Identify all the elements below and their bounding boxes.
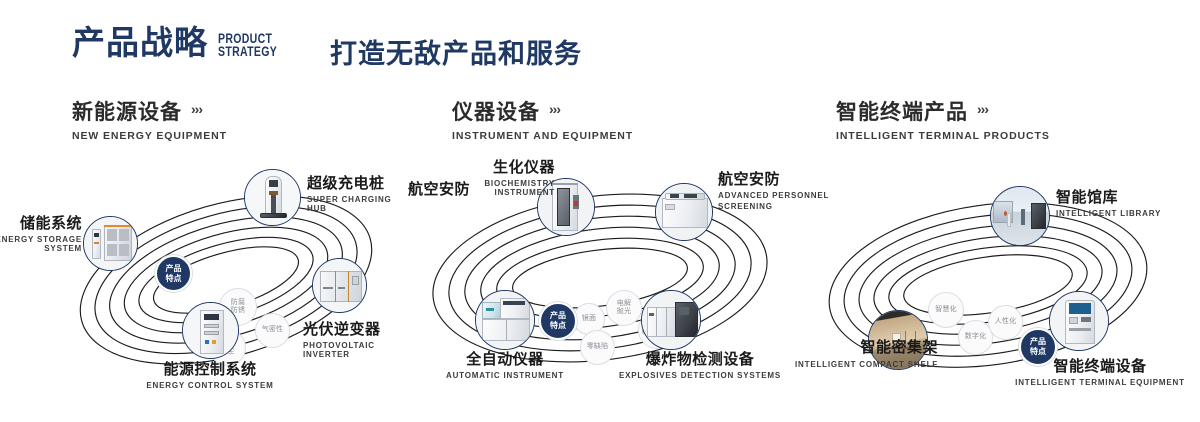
node-label-cn: 智能终端设备 bbox=[1005, 355, 1195, 376]
page-subtitle: 打造无敌产品和服务 bbox=[330, 32, 582, 71]
node-advanced-personnel-screening[interactable] bbox=[655, 183, 713, 241]
node-intelligent-library[interactable] bbox=[990, 186, 1050, 246]
node-label-cn: 全自动仪器 bbox=[425, 348, 585, 369]
node-label-en: BIOCHEMISTRY INSTRUMENT bbox=[430, 179, 555, 197]
section-title-instrument-and-equipment: 仪器设备››› INSTRUMENT AND EQUIPMENT bbox=[452, 96, 633, 142]
keyword-label: 镜面 bbox=[582, 315, 596, 323]
label-intelligent-library: 智能馆库 INTELLIGENT LIBRARY bbox=[1056, 186, 1161, 218]
node-super-charging-hub[interactable] bbox=[244, 169, 301, 226]
label-intelligent-terminal-equipment: 智能终端设备 INTELLIGENT TERMINAL EQUIPMENT bbox=[1005, 355, 1195, 387]
core-badge-product-features: 产品特点 bbox=[539, 302, 577, 340]
label-automatic-instrument: 全自动仪器 AUTOMATIC INSTRUMENT bbox=[425, 348, 585, 380]
label-biochemistry-instrument: 生化仪器 BIOCHEMISTRY INSTRUMENT bbox=[430, 156, 555, 197]
page-title-en-line2: STRATEGY bbox=[218, 45, 277, 58]
page-title-cn: 产品战略 bbox=[72, 26, 208, 59]
diagram-intelligent-terminal-products: 智慧化 数字化 人性化 产品特点 智能馆库 INTELLI bbox=[800, 150, 1200, 400]
node-energy-storage-system[interactable] bbox=[83, 216, 138, 271]
keyword-label: 电解抛光 bbox=[617, 300, 631, 316]
diagram-new-energy-equipment: 户外 防腐防锈 防水防尘 气密性 产品特点 bbox=[0, 150, 400, 400]
section-title-new-energy-equipment: 新能源设备››› NEW ENERGY EQUIPMENT bbox=[72, 96, 227, 142]
keyword-bubble: 电解抛光 bbox=[606, 290, 642, 326]
keyword-label: 气密性 bbox=[262, 326, 284, 334]
node-label-cn: 光伏逆变器 bbox=[303, 318, 400, 339]
keyword-bubble: 智慧化 bbox=[928, 292, 964, 328]
label-intelligent-compact-shelf: 智能密集架 INTELLIGENT COMPACT SHELF bbox=[778, 336, 938, 370]
node-intelligent-terminal-equipment[interactable] bbox=[1049, 291, 1109, 351]
label-explosives-detection-systems: 爆炸物检测设备 EXPLOSIVES DETECTION SYSTEMS bbox=[605, 348, 795, 380]
chevron-right-icon: ››› bbox=[977, 101, 988, 117]
keyword-bubble: 气密性 bbox=[255, 313, 290, 348]
node-label-en: AUTOMATIC INSTRUMENT bbox=[425, 371, 585, 380]
section-title-en: NEW ENERGY EQUIPMENT bbox=[72, 130, 227, 142]
node-photovoltaic-inverter[interactable] bbox=[312, 258, 367, 313]
product-strategy-infographic: 产品战略 PRODUCT STRATEGY 打造无敌产品和服务 新能源设备›››… bbox=[0, 0, 1200, 422]
photo-intelligent-terminal-equipment bbox=[1050, 292, 1108, 350]
chevron-right-icon: ››› bbox=[549, 101, 560, 117]
photo-advanced-personnel-screening bbox=[656, 184, 712, 240]
node-label-cn: 智能密集架 bbox=[778, 336, 938, 357]
label-photovoltaic-inverter: 光伏逆变器 PHOTOVOLTAIC INVERTER bbox=[303, 318, 400, 359]
label-energy-storage-system: 储能系统 ENERGY STORAGE SYSTEM bbox=[0, 212, 82, 253]
node-label-cn: 储能系统 bbox=[0, 212, 82, 233]
section-title-cn: 智能终端产品 bbox=[836, 96, 968, 126]
section-title-intelligent-terminal-products: 智能终端产品››› INTELLIGENT TERMINAL PRODUCTS bbox=[836, 96, 1050, 142]
keyword-bubble: 人性化 bbox=[988, 305, 1023, 340]
page-title-en: PRODUCT STRATEGY bbox=[218, 32, 277, 58]
node-automatic-instrument[interactable] bbox=[475, 290, 535, 350]
node-label-en: ENERGY STORAGE SYSTEM bbox=[0, 235, 82, 253]
node-energy-control-system[interactable] bbox=[182, 302, 239, 359]
page-title: 产品战略 PRODUCT STRATEGY bbox=[72, 26, 294, 59]
node-label-en: ENERGY CONTROL SYSTEM bbox=[125, 381, 295, 390]
core-badge-label: 产品特点 bbox=[1030, 337, 1046, 356]
section-title-en: INTELLIGENT TERMINAL PRODUCTS bbox=[836, 130, 1050, 142]
chevron-right-icon: ››› bbox=[191, 101, 202, 117]
photo-super-charging-hub bbox=[245, 170, 300, 225]
node-label-en: PHOTOVOLTAIC INVERTER bbox=[303, 341, 400, 359]
core-badge-label: 产品特点 bbox=[166, 264, 182, 283]
section-title-en: INSTRUMENT AND EQUIPMENT bbox=[452, 130, 633, 142]
node-label-en: INTELLIGENT LIBRARY bbox=[1056, 209, 1161, 218]
label-energy-control-system: 能源控制系统 ENERGY CONTROL SYSTEM bbox=[125, 358, 295, 390]
label-super-charging-hub: 超级充电桩 SUPER CHARGING HUB bbox=[307, 172, 400, 213]
node-label-en: INTELLIGENT COMPACT SHELF bbox=[778, 359, 938, 370]
keyword-label: 人性化 bbox=[995, 318, 1017, 326]
node-label-cn: 能源控制系统 bbox=[125, 358, 295, 379]
photo-photovoltaic-inverter bbox=[313, 259, 366, 312]
keyword-label: 智慧化 bbox=[935, 306, 957, 314]
node-label-cn: 超级充电桩 bbox=[307, 172, 400, 193]
node-label-cn: 生化仪器 bbox=[430, 156, 555, 177]
photo-energy-control-system bbox=[183, 303, 238, 358]
node-label-en: EXPLOSIVES DETECTION SYSTEMS bbox=[605, 371, 795, 380]
node-explosives-detection-systems[interactable] bbox=[641, 290, 701, 350]
keyword-label: 数字化 bbox=[965, 333, 987, 341]
diagram-instrument-and-equipment: 镜面 电解抛光 零缺陷 钣金与机加工结合 产品特点 航空安防 bbox=[400, 150, 800, 400]
photo-intelligent-library bbox=[991, 187, 1049, 245]
photo-energy-storage-system bbox=[84, 217, 137, 270]
core-badge-label: 产品特点 bbox=[550, 311, 566, 330]
section-title-cn: 新能源设备 bbox=[72, 96, 182, 126]
photo-automatic-instrument bbox=[476, 291, 534, 349]
section-title-cn: 仪器设备 bbox=[452, 96, 540, 126]
node-label-cn: 智能馆库 bbox=[1056, 186, 1161, 207]
node-label-en: INTELLIGENT TERMINAL EQUIPMENT bbox=[1005, 378, 1195, 387]
photo-explosives-detection-systems bbox=[642, 291, 700, 349]
node-label-en: SUPER CHARGING HUB bbox=[307, 195, 400, 213]
node-label-cn: 爆炸物检测设备 bbox=[605, 348, 795, 369]
core-badge-product-features: 产品特点 bbox=[155, 255, 192, 292]
